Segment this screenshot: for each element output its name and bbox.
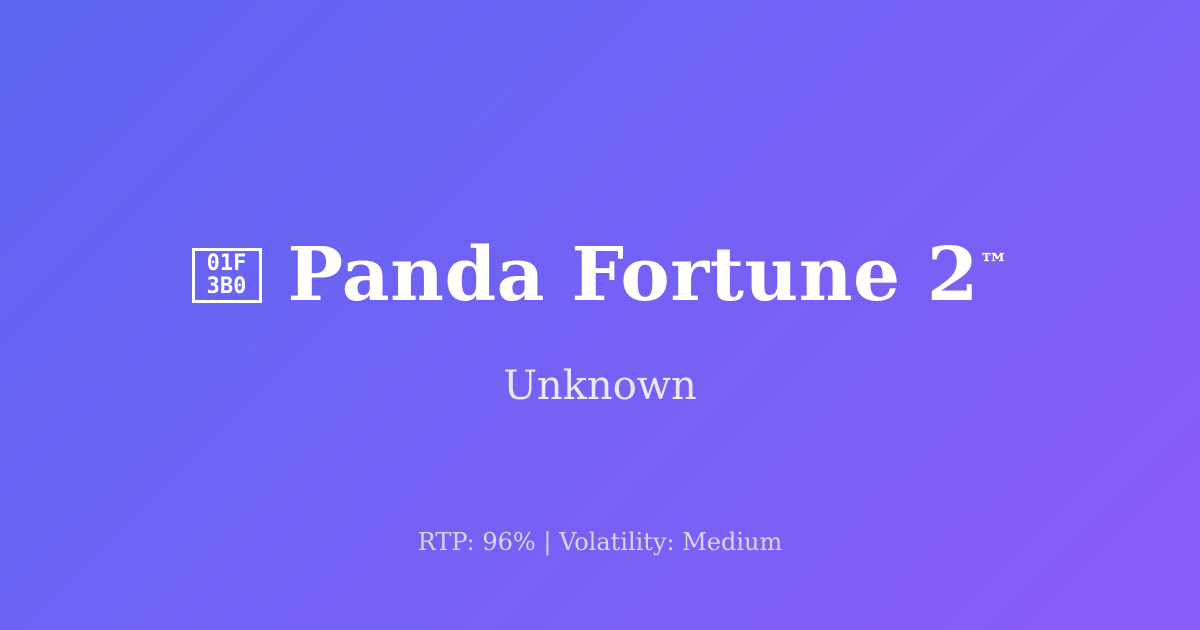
- slot-machine-icon: 01F 3B0: [192, 248, 262, 303]
- title-row: 01F 3B0 Panda Fortune 2™: [0, 232, 1200, 318]
- page-title: Panda Fortune 2™: [288, 232, 1009, 318]
- game-preview-card: 01F 3B0 Panda Fortune 2™ Unknown RTP: 96…: [0, 0, 1200, 630]
- slot-machine-icon-hex-top: 01F: [207, 252, 247, 275]
- game-title-text: Panda Fortune 2: [288, 232, 979, 318]
- game-stats-footer: RTP: 96% | Volatility: Medium: [0, 526, 1200, 558]
- slot-machine-icon-hex-bottom: 3B0: [207, 275, 247, 298]
- provider-subtitle: Unknown: [0, 362, 1200, 410]
- trademark-symbol: ™: [979, 246, 1009, 281]
